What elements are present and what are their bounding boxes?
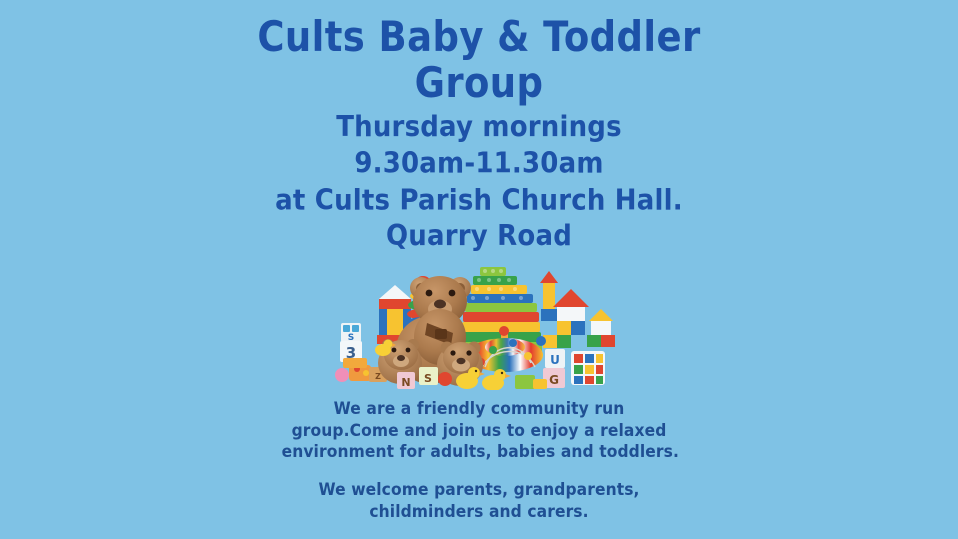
detail-day: Thursday mornings [179,110,779,147]
welcome-line-1: We welcome parents, grandparents, [282,479,677,500]
alphabet-block-S-bottom: S [419,367,438,385]
intro-line-2: group.Come and join us to enjoy a relaxe… [282,420,677,441]
svg-text:U: U [550,353,560,367]
yellow-block [533,379,547,389]
svg-text:G: G [549,373,559,387]
detail-venue: at Cults Parish Church Hall. [179,183,779,220]
detail-time: 9.30am-11.30am [179,146,779,183]
welcome-line-2: childminders and carers. [282,501,677,522]
detail-street: Quarry Road [179,219,779,256]
green-block [515,375,535,389]
pink-ball [335,368,349,382]
toy-pile-illustration: S 3 Z [335,255,623,390]
poster-canvas: Cults Baby & Toddler Group Thursday morn… [0,0,958,539]
svg-text:N: N [401,376,410,389]
colour-cube [571,351,605,385]
red-ball [438,372,452,386]
svg-text:S: S [424,372,432,385]
block-house-red-roof [540,271,615,348]
blue-bead [536,336,546,346]
welcome-paragraph: We welcome parents, grandparents, childm… [282,479,677,522]
toy-pile-photo: S 3 Z [335,255,623,390]
intro-line-3: environment for adults, babies and toddl… [282,441,677,462]
title-line-1: Cults Baby & Toddler [219,14,739,60]
intro-paragraph: We are a friendly community run group.Co… [282,398,677,462]
alphabet-block-U: U [545,349,565,368]
event-details: Thursday mornings 9.30am-11.30am at Cult… [179,110,779,256]
body-copy: We are a friendly community run group.Co… [282,398,677,522]
alphabet-block-S: S [341,323,361,343]
intro-line-1: We are a friendly community run [282,398,677,419]
page-title: Cults Baby & Toddler Group [219,14,739,107]
svg-text:Z: Z [375,372,381,381]
alphabet-block-N: N [397,372,415,389]
title-line-2: Group [219,60,739,106]
